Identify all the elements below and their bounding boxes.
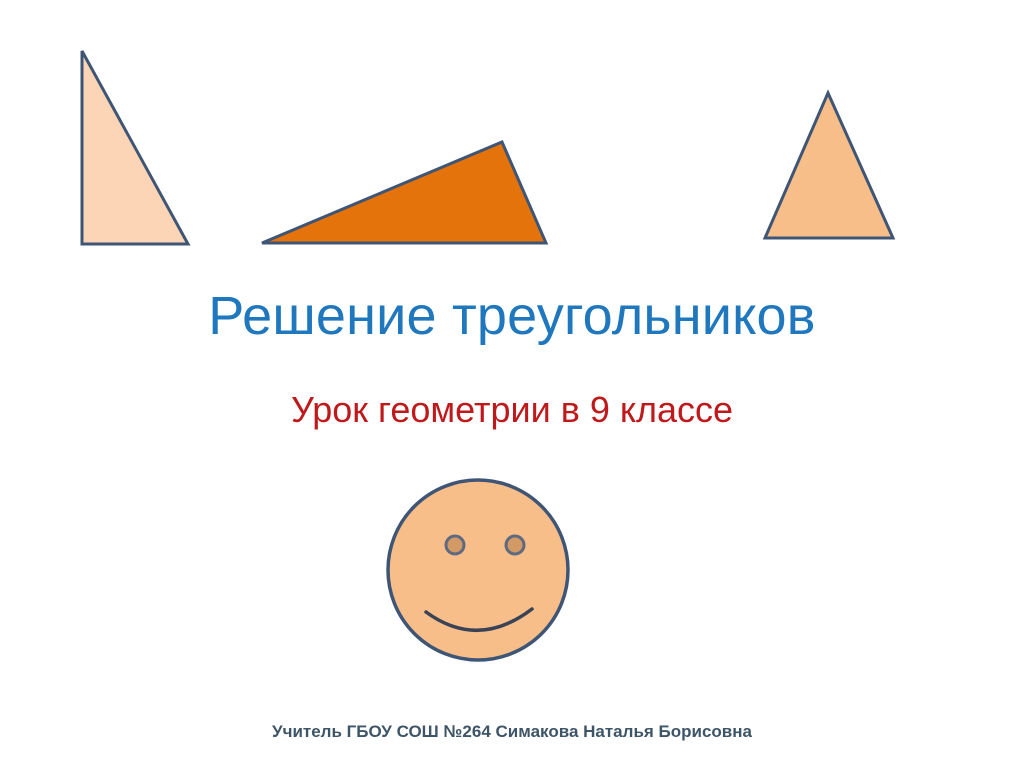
footer-block: Учитель ГБОУ СОШ №264 Симакова Наталья Б… [0, 722, 1024, 742]
smiley-face-group [388, 480, 568, 660]
shapes-layer [0, 0, 1024, 767]
title-block: Решение треугольников [0, 285, 1024, 347]
obtuse-triangle-shape [262, 142, 546, 243]
smiley-left-eye [446, 536, 464, 554]
smiley-face-circle [388, 480, 568, 660]
page-title: Решение треугольников [0, 285, 1024, 347]
right-triangle-shape [82, 51, 188, 244]
page-subtitle: Урок геометрии в 9 классе [0, 389, 1024, 430]
author-credit: Учитель ГБОУ СОШ №264 Симакова Наталья Б… [0, 722, 1024, 742]
isosceles-triangle-shape [765, 93, 893, 238]
smiley-right-eye [506, 536, 524, 554]
slide-canvas: Решение треугольников Урок геометрии в 9… [0, 0, 1024, 767]
subtitle-block: Урок геометрии в 9 классе [0, 389, 1024, 430]
